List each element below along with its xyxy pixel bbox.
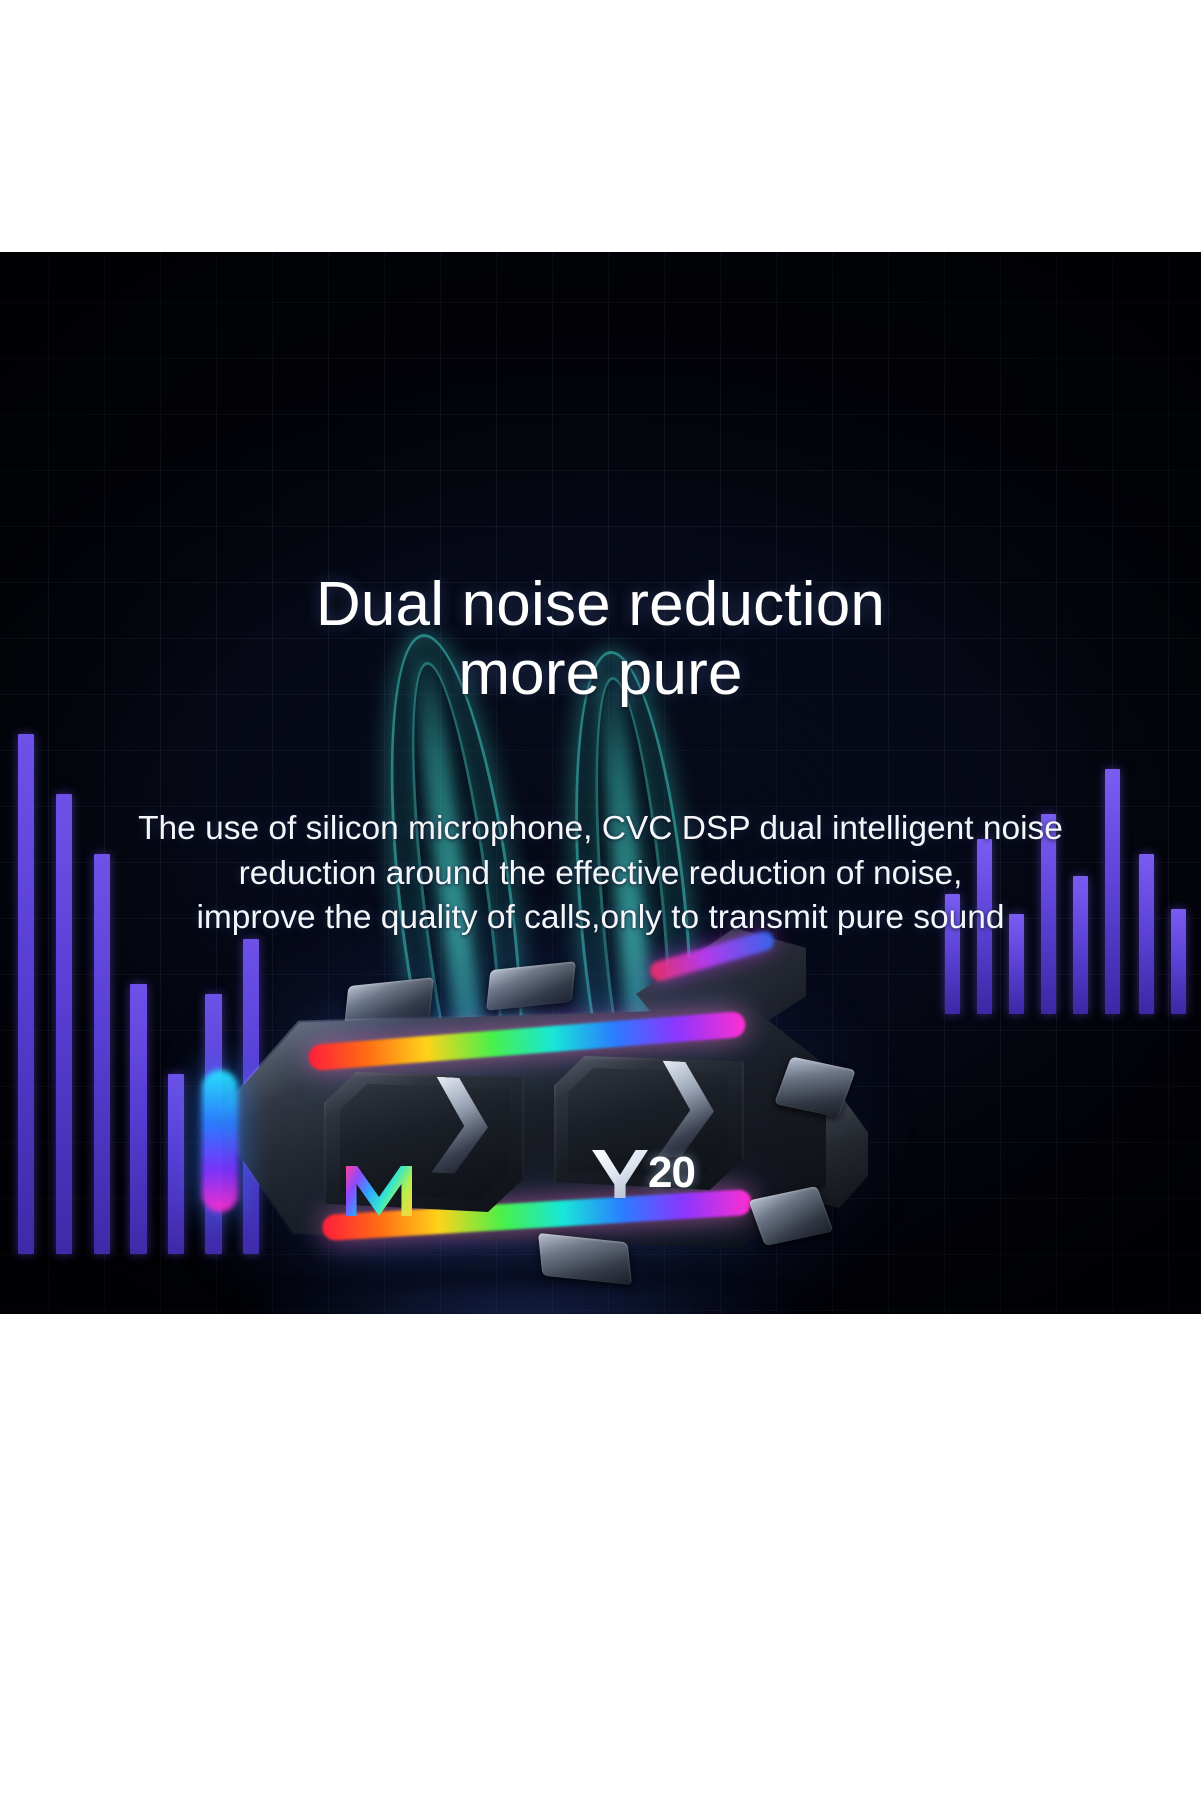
product-headset: 20 xyxy=(196,920,856,1314)
product-stage: 20 xyxy=(0,252,1201,1314)
model-number-label: 20 xyxy=(648,1148,695,1198)
headline: Dual noise reduction more pure xyxy=(0,570,1201,709)
body-line-1: The use of silicon microphone, CVC DSP d… xyxy=(0,807,1201,852)
body-copy: The use of silicon microphone, CVC DSP d… xyxy=(0,807,1201,941)
body-line-3: improve the quality of calls,only to tra… xyxy=(0,896,1201,941)
product-banner: Dual noise reduction more pure The use o… xyxy=(0,0,1201,1801)
body-line-2: reduction around the effective reduction… xyxy=(0,852,1201,897)
product-reflection xyxy=(240,1292,800,1314)
dark-background-panel: Dual noise reduction more pure The use o… xyxy=(0,252,1201,1314)
rgb-light-left xyxy=(202,1070,238,1212)
headline-line-2: more pure xyxy=(0,639,1201,708)
headline-line-1: Dual noise reduction xyxy=(316,570,885,639)
